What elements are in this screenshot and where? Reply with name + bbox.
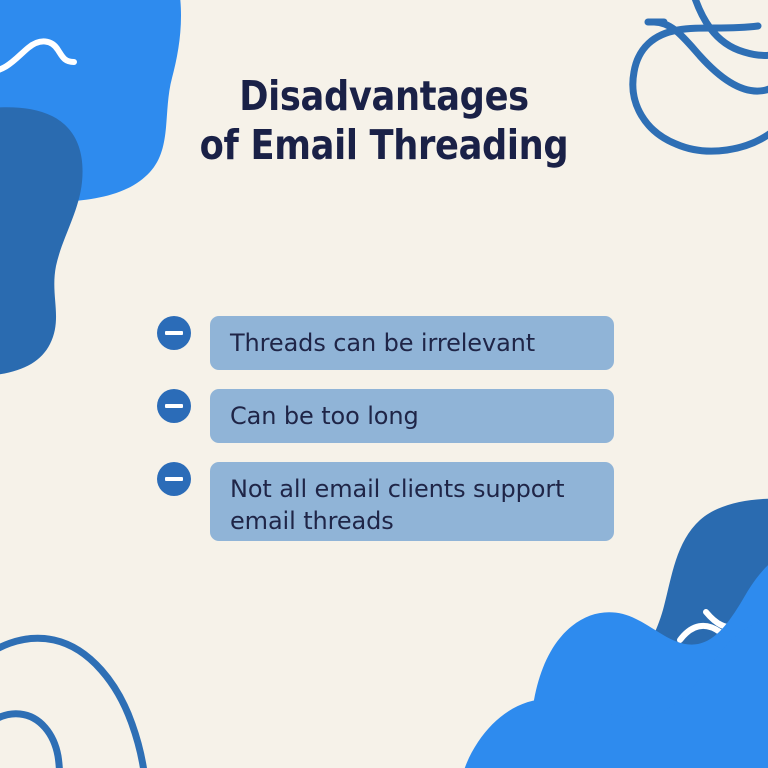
list-item-pill: Threads can be irrelevant [210, 316, 614, 370]
title-line-2: of Email Threading [54, 121, 714, 170]
title-line-1: Disadvantages [54, 72, 714, 121]
list-item-pill: Not all email clients support email thre… [210, 462, 614, 541]
page-title: Disadvantages of Email Threading [0, 72, 768, 170]
poster-canvas: Disadvantages of Email Threading Threads… [0, 0, 768, 768]
poster-content: Disadvantages of Email Threading Threads… [0, 0, 768, 768]
minus-circle-icon [157, 462, 191, 496]
list-item-pill: Can be too long [210, 389, 614, 443]
minus-circle-icon [157, 389, 191, 423]
list-item-label: Can be too long [230, 400, 594, 432]
minus-circle-icon [157, 316, 191, 350]
list-item-label: Not all email clients support email thre… [230, 473, 594, 537]
minus-bar [165, 477, 183, 481]
minus-bar [165, 331, 183, 335]
minus-bar [165, 404, 183, 408]
list-item-label: Threads can be irrelevant [230, 327, 594, 359]
